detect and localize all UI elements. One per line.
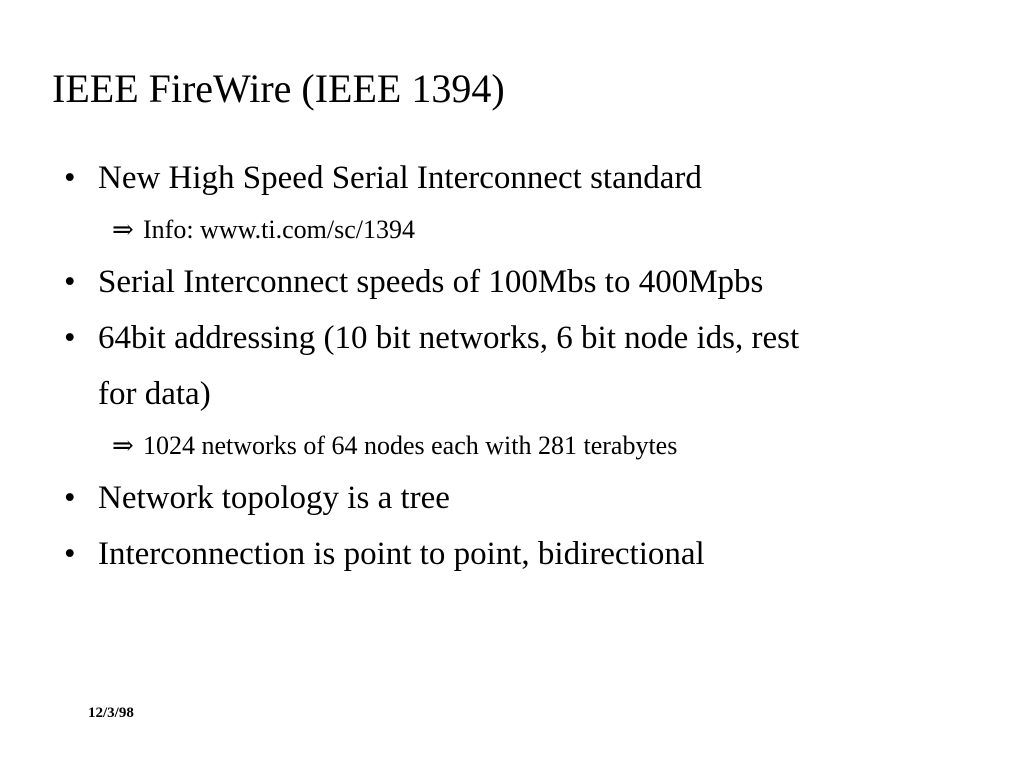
double-arrow-icon: ⇒ [112,206,134,254]
list-item: • Interconnection is point to point, bid… [0,526,1024,582]
bullet-marker-icon: • [64,526,84,582]
sub-list-item-label: Info: www.ti.com/sc/1394 [143,206,964,254]
bullet-marker-icon: • [64,150,84,206]
list-item-label: Network topology is a tree [98,470,964,526]
list-item: • New High Speed Serial Interconnect sta… [0,150,1024,206]
list-item: • Serial Interconnect speeds of 100Mbs t… [0,254,1024,310]
page-title: IEEE FireWire (IEEE 1394) [52,66,505,112]
slide-body-list: • New High Speed Serial Interconnect sta… [0,150,1024,582]
list-item-label: Serial Interconnect speeds of 100Mbs to … [98,254,964,310]
bullet-marker-icon: • [64,310,84,366]
sub-list-item-label: 1024 networks of 64 nodes each with 281 … [143,422,964,470]
bullet-marker-icon: • [64,254,84,310]
list-item-label: Interconnection is point to point, bidir… [98,526,964,582]
list-item-label-continued: for data) [98,366,964,422]
list-item-label: New High Speed Serial Interconnect stand… [98,150,964,206]
list-item-label: 64bit addressing (10 bit networks, 6 bit… [98,310,964,366]
list-item: • 64bit addressing (10 bit networks, 6 b… [0,310,1024,422]
slide-canvas: IEEE FireWire (IEEE 1394) • New High Spe… [0,0,1024,768]
sub-list-item: ⇒ Info: www.ti.com/sc/1394 [0,206,1024,254]
sub-list-item: ⇒ 1024 networks of 64 nodes each with 28… [0,422,1024,470]
double-arrow-icon: ⇒ [112,422,134,470]
bullet-marker-icon: • [64,470,84,526]
slide-footer-date: 12/3/98 [88,704,134,722]
list-item: • Network topology is a tree [0,470,1024,526]
